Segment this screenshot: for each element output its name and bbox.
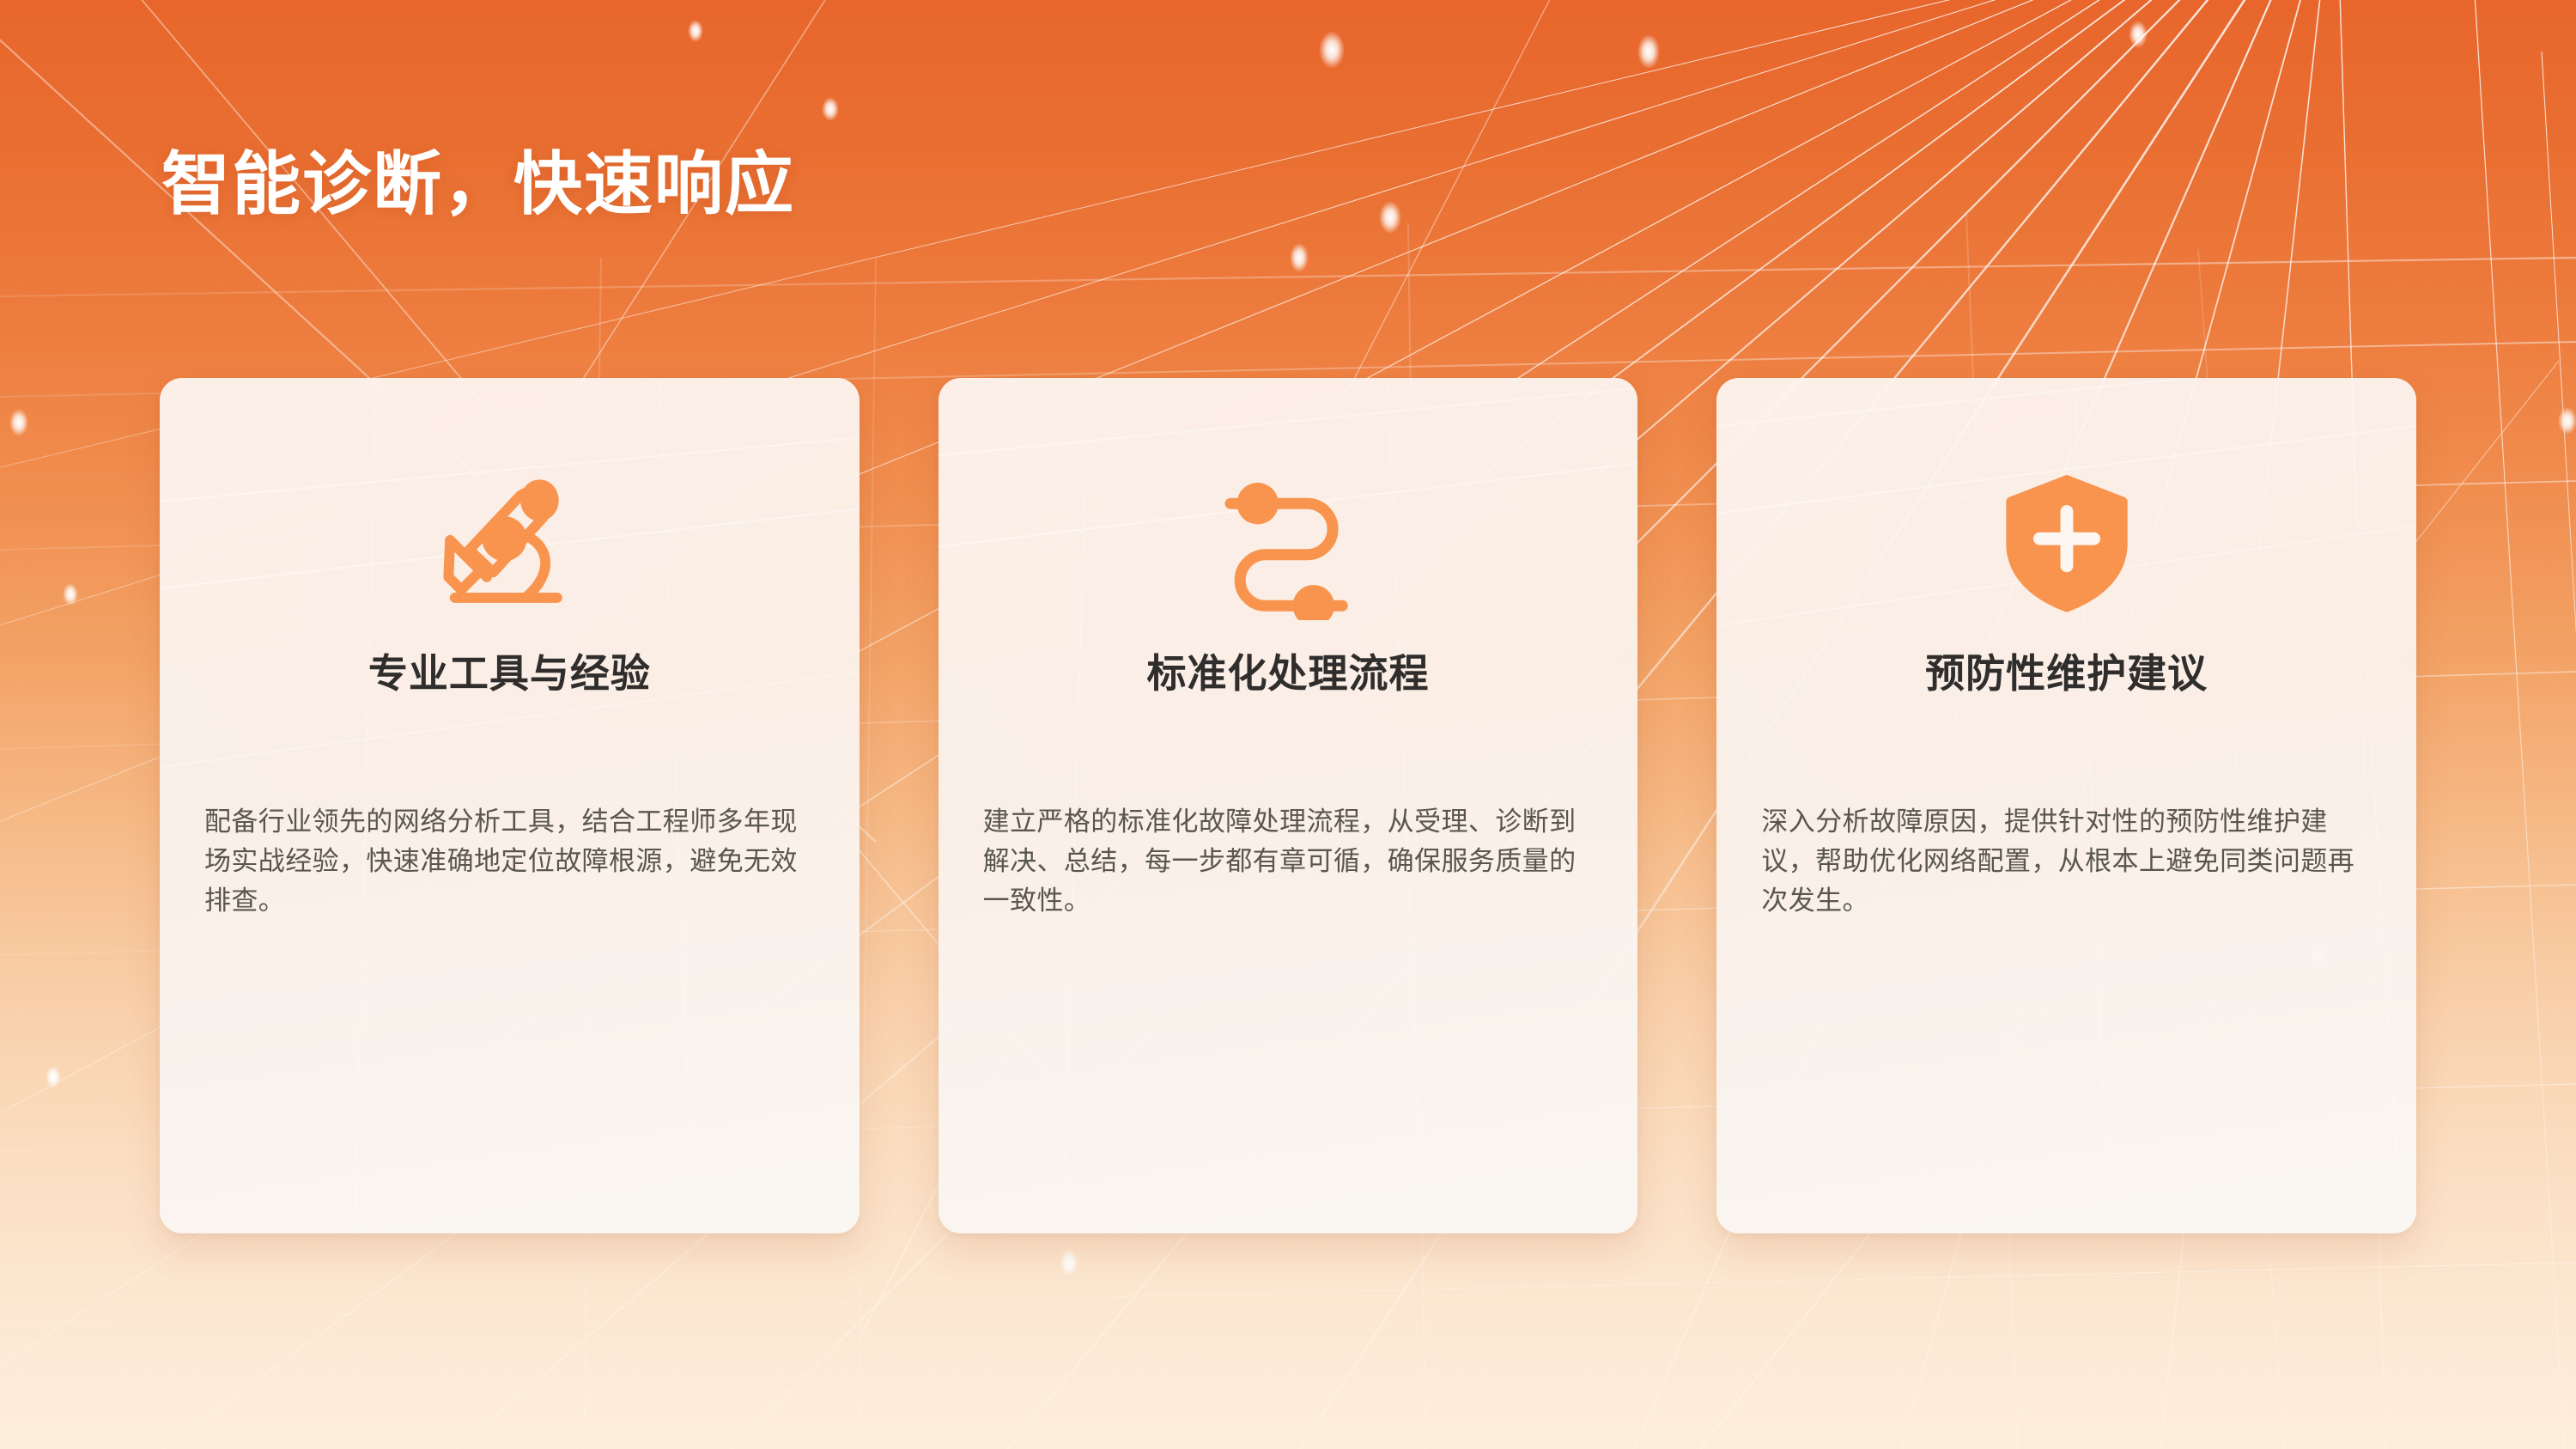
card-body-1: 配备行业领先的网络分析工具，结合工程师多年现场实战经验，快速准确地定位故障根源，…: [160, 802, 860, 921]
card-body-3: 深入分析故障原因，提供针对性的预防性维护建议，帮助优化网络配置，从根本上避免同类…: [1716, 802, 2416, 921]
process-flow-icon: [1206, 459, 1370, 622]
card-title-2: 标准化处理流程: [1147, 642, 1430, 699]
card-body-2: 建立严格的标准化故障处理流程，从受理、诊断到解决、总结，每一步都有章可循，确保服…: [939, 802, 1638, 921]
shield-plus-icon: [1985, 459, 2148, 622]
feature-card-2[interactable]: 标准化处理流程 建立严格的标准化故障处理流程，从受理、诊断到解决、总结，每一步都…: [939, 378, 1638, 1233]
microscope-icon: [428, 459, 591, 622]
slide-root: 智能诊断，快速响应: [0, 0, 2576, 1449]
feature-card-1[interactable]: 专业工具与经验 配备行业领先的网络分析工具，结合工程师多年现场实战经验，快速准确…: [160, 378, 860, 1233]
card-title-1: 专业工具与经验: [368, 642, 651, 699]
page-title: 智能诊断，快速响应: [161, 144, 795, 225]
feature-card-3[interactable]: 预防性维护建议 深入分析故障原因，提供针对性的预防性维护建议，帮助优化网络配置，…: [1716, 378, 2416, 1233]
feature-card-row: 专业工具与经验 配备行业领先的网络分析工具，结合工程师多年现场实战经验，快速准确…: [160, 378, 2416, 1233]
card-title-3: 预防性维护建议: [1925, 642, 2208, 699]
